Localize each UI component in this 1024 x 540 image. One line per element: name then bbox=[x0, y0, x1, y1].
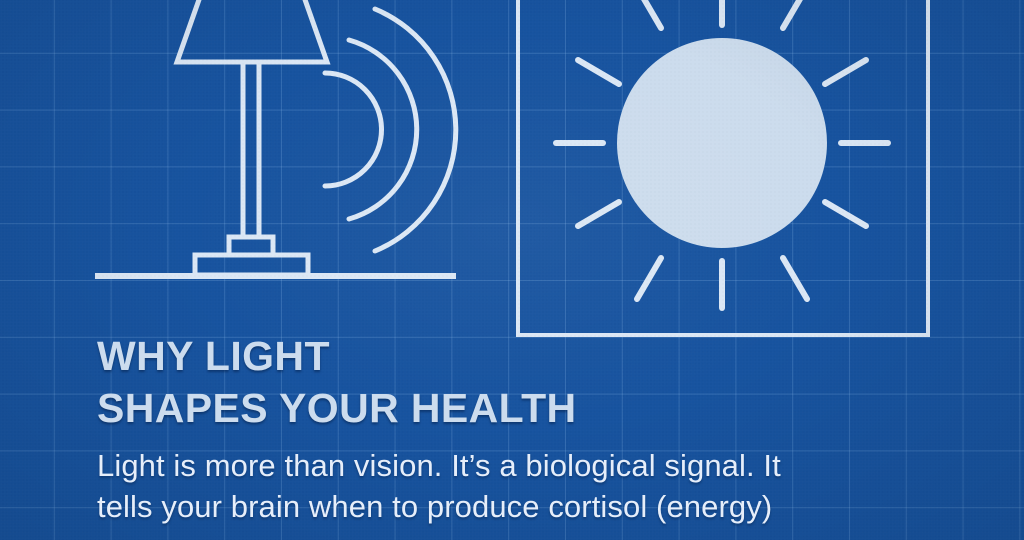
lamp-base-upper-icon bbox=[229, 237, 273, 255]
page-title: WHY LIGHT SHAPES YOUR HEALTH bbox=[97, 330, 997, 434]
light-wave-arc-outer-icon bbox=[375, 9, 456, 251]
sun-ray-icon bbox=[783, 0, 807, 28]
square-frame-icon bbox=[518, 0, 928, 335]
sun-ray-icon bbox=[825, 202, 866, 226]
sun-disc-icon bbox=[617, 38, 827, 248]
light-wave-arc-middle-icon bbox=[349, 40, 417, 219]
lamp-shade-icon bbox=[177, 0, 327, 62]
sun-ray-icon bbox=[637, 258, 661, 299]
body-paragraph: Light is more than vision. It’s a biolog… bbox=[97, 446, 997, 528]
blueprint-poster: WHY LIGHT SHAPES YOUR HEALTH Light is mo… bbox=[0, 0, 1024, 540]
sun-ray-icon bbox=[637, 0, 661, 28]
lamp-base-lower-icon bbox=[195, 255, 308, 275]
sun-ray-icon bbox=[578, 202, 619, 226]
sun-ray-icon bbox=[825, 60, 866, 84]
sun-ray-icon bbox=[578, 60, 619, 84]
sun-ray-icon bbox=[783, 258, 807, 299]
light-wave-arc-inner-icon bbox=[325, 73, 382, 186]
text-block: WHY LIGHT SHAPES YOUR HEALTH Light is mo… bbox=[97, 330, 997, 528]
